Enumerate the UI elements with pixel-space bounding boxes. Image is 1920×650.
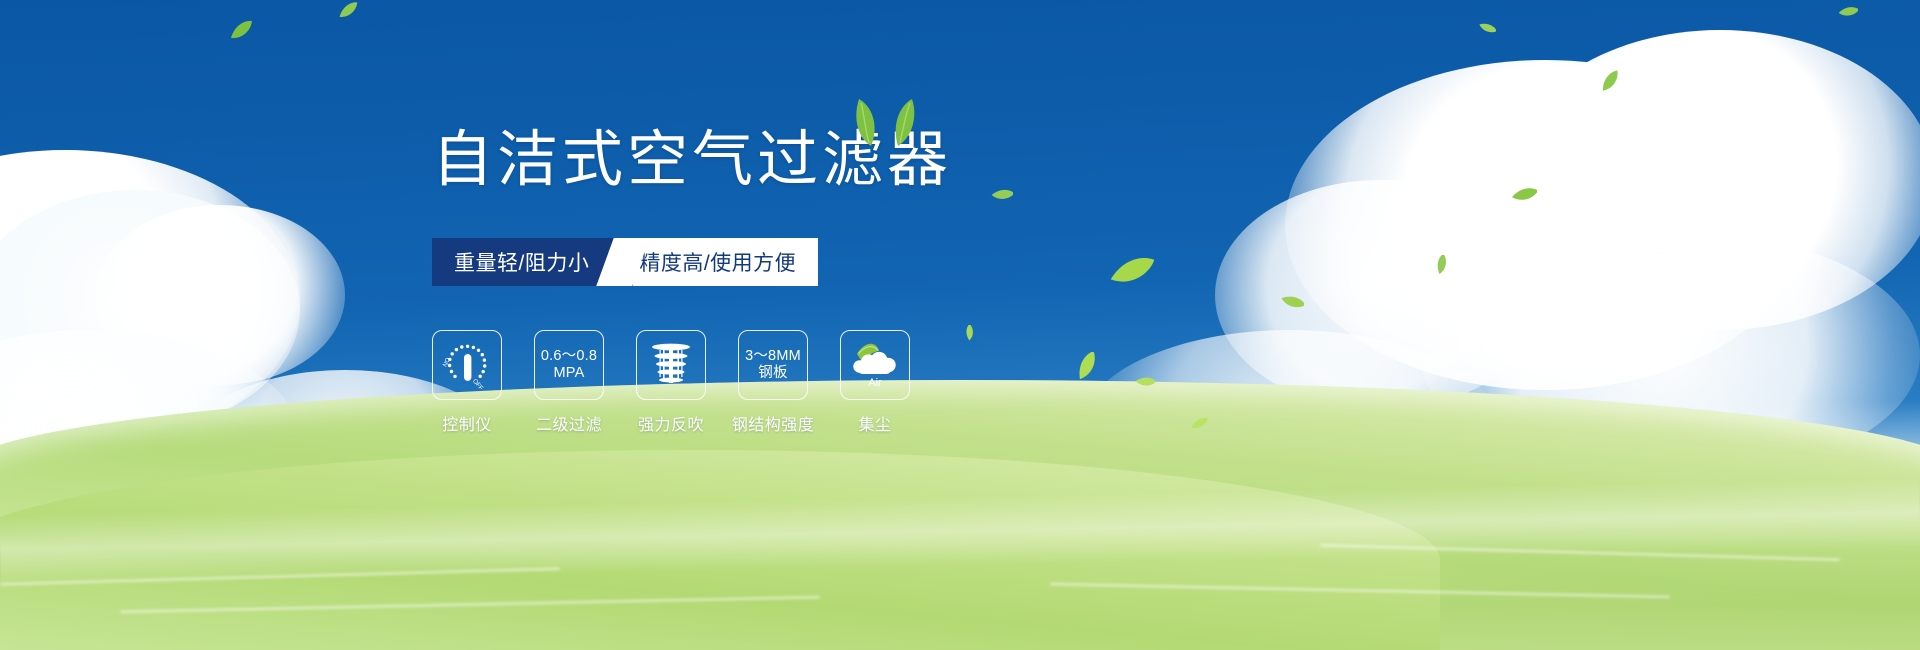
feature-icon-box: 3～8MM 钢板 xyxy=(738,330,808,400)
ribbon-right-text: 精度高/使用方便 xyxy=(639,247,796,277)
feature-icon-box: 0.6～0.8 MPA xyxy=(534,330,604,400)
feature-item-steel-strength[interactable]: 3～8MM 钢板 钢结构强度 xyxy=(738,330,808,435)
filter-element-icon xyxy=(647,339,695,391)
steel-line-1: 3～8MM xyxy=(745,348,801,365)
banner-content: 自洁式空气过滤器 重量轻/阻力小 精度高/使用方便 xyxy=(0,0,1920,650)
gauge-dial-icon: NO OFF xyxy=(439,339,495,391)
feature-item-back-blow[interactable]: 强力反吹 xyxy=(636,330,706,435)
feature-item-dust-collection[interactable]: Air 集尘 xyxy=(840,330,910,435)
air-label: Air xyxy=(868,377,882,389)
pressure-line-2: MPA xyxy=(541,365,597,382)
ribbon-right-tag: 精度高/使用方便 xyxy=(633,238,818,286)
feature-label: 二级过滤 xyxy=(536,411,602,435)
svg-text:OFF: OFF xyxy=(471,378,484,391)
feature-item-two-stage-filter[interactable]: 0.6～0.8 MPA 二级过滤 xyxy=(534,330,604,435)
leaf-pair-icon xyxy=(845,95,925,147)
air-cloud-leaf-icon: Air xyxy=(846,338,904,392)
feature-label: 集尘 xyxy=(858,411,891,435)
feature-icon-box xyxy=(636,330,706,400)
steel-plate-text-icon: 3～8MM 钢板 xyxy=(745,348,801,382)
feature-label: 控制仪 xyxy=(442,411,492,435)
banner-stage: 自洁式空气过滤器 重量轻/阻力小 精度高/使用方便 xyxy=(0,0,1920,650)
subtitle-ribbon: 重量轻/阻力小 精度高/使用方便 xyxy=(432,238,818,286)
feature-icon-box: Air xyxy=(840,330,910,400)
pressure-text-icon: 0.6～0.8 MPA xyxy=(541,348,597,382)
ribbon-left-text: 重量轻/阻力小 xyxy=(454,247,589,277)
feature-item-controller[interactable]: NO OFF 控制仪 xyxy=(432,330,502,435)
feature-label: 钢结构强度 xyxy=(732,411,815,435)
ribbon-left-tag: 重量轻/阻力小 xyxy=(432,238,615,286)
feature-list: NO OFF 控制仪 0.6～0.8 MPA 二级过滤 xyxy=(432,330,910,435)
feature-icon-box: NO OFF xyxy=(432,330,502,400)
feature-label: 强力反吹 xyxy=(638,411,704,435)
steel-line-2: 钢板 xyxy=(745,365,801,382)
pressure-line-1: 0.6～0.8 xyxy=(541,348,597,365)
